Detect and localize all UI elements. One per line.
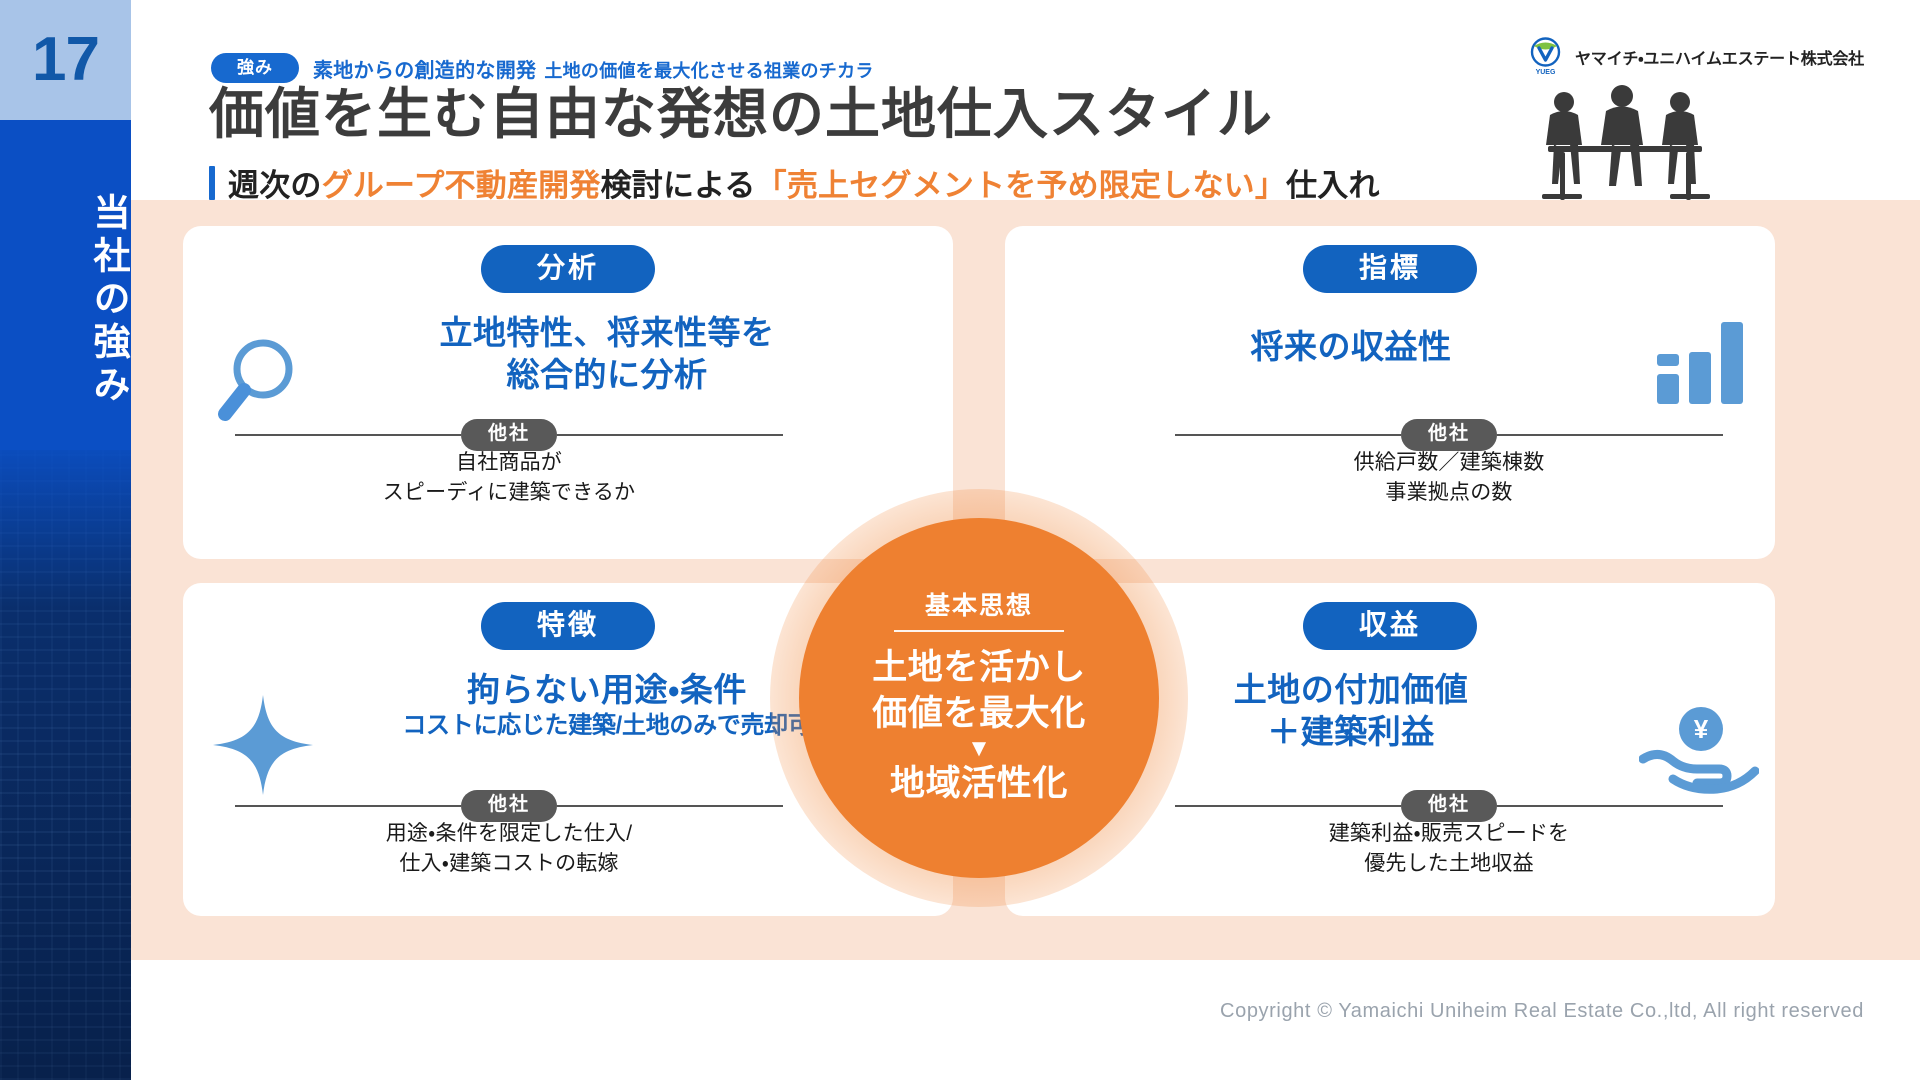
sparkle-icon — [211, 693, 315, 802]
divider-line-right — [1497, 805, 1723, 807]
strength-badge: 強み — [211, 53, 299, 83]
subtitle-accent-1: グループ不動産開発 — [322, 168, 601, 203]
card-grid: 分析 立地特性、将来性等を 総合的に分析 他社 自社商品が スピーディに建築でき… — [183, 226, 1775, 916]
center-main-line1: 土地を活かし — [872, 648, 1086, 687]
subtitle-part-1: 週次の — [228, 168, 322, 203]
divider-line-right — [1497, 434, 1723, 436]
svg-text:¥: ¥ — [1694, 714, 1709, 744]
company-name: ヤマイチ・ユニハイムエステート株式会社 — [1575, 45, 1864, 69]
people-illustration-icon — [1530, 82, 1720, 202]
other-company-badge: 他社 — [461, 419, 557, 451]
hand-yen-icon: ¥ — [1639, 701, 1759, 802]
card-other-line2: スピーディに建築できるか — [383, 481, 636, 504]
center-divider — [894, 630, 1064, 632]
left-rail: 17 当社の強み — [0, 0, 131, 1080]
card-headline-line2: ＋建築利益 — [1267, 713, 1435, 750]
svg-text:YUEG: YUEG — [1536, 69, 1556, 76]
card-other-text: 供給戸数／建築棟数 事業拠点の数 — [1175, 448, 1723, 508]
eyebrow: 強み 素地からの創造的な開発土地の価値を最大化させる祖業のチカラ — [211, 53, 874, 83]
subtitle-part-5: 仕入れ — [1286, 168, 1380, 203]
other-company-badge: 他社 — [1401, 419, 1497, 451]
page-number: 17 — [32, 29, 99, 91]
card-other-line1: 自社商品が — [456, 451, 562, 474]
page-title: 価値を生む自由な発想の土地仕入スタイル — [209, 84, 1273, 146]
logo-mark-icon: YUEG — [1525, 36, 1566, 77]
card-divider-row: 他社 — [235, 790, 783, 822]
card-headline-line2: 総合的に分析 — [507, 356, 708, 393]
divider-line-left — [1175, 805, 1401, 807]
card-other-text: 用途・条件を限定した仕入/ 仕入・建築コストの転嫁 — [235, 819, 783, 879]
eyebrow-text: 素地からの創造的な開発土地の価値を最大化させる祖業のチカラ — [313, 54, 874, 83]
card-other-line2: 仕入・建築コストの転嫁 — [399, 852, 618, 875]
other-company-badge: 他社 — [1401, 790, 1497, 822]
center-arrow-icon: ▼ — [967, 738, 991, 761]
slide-footer: Copyright © Yamaichi Uniheim Real Estate… — [131, 960, 1920, 1080]
center-label: 基本思想 — [925, 591, 1033, 621]
center-concept-circle: 基本思想 土地を活かし 価値を最大化 ▼ 地域活性化 — [799, 518, 1159, 878]
subtitle-row: 週次のグループ不動産開発検討による「売上セグメントを予め限定しない」仕入れ — [209, 160, 1380, 205]
divider-line-right — [557, 434, 783, 436]
card-other-line2: 事業拠点の数 — [1385, 481, 1512, 504]
card-other-text: 自社商品が スピーディに建築できるか — [235, 448, 783, 508]
card-other-line1: 供給戸数／建築棟数 — [1354, 451, 1545, 474]
card-category-badge: 分析 — [481, 245, 655, 293]
content-panel: 分析 立地特性、将来性等を 総合的に分析 他社 自社商品が スピーディに建築でき… — [131, 200, 1920, 960]
card-divider-row: 他社 — [1175, 419, 1723, 451]
card-other-text: 建築利益・販売スピードを 優先した土地収益 — [1175, 819, 1723, 879]
card-headline-line1: 将来の収益性 — [1251, 328, 1452, 365]
card-category-badge: 特徴 — [481, 602, 655, 650]
card-headline-line1: 拘らない用途・条件 — [467, 671, 747, 708]
card-analysis[interactable]: 分析 立地特性、将来性等を 総合的に分析 他社 自社商品が スピーディに建築でき… — [183, 226, 953, 559]
copyright-text: Copyright © Yamaichi Uniheim Real Estate… — [1220, 1000, 1864, 1023]
center-bottom-text: 地域活性化 — [890, 763, 1068, 805]
card-headline-line1: 土地の付加価値 — [1234, 671, 1469, 708]
card-category-badge: 指標 — [1303, 245, 1477, 293]
divider-line-left — [1175, 434, 1401, 436]
page-number-block: 17 — [0, 0, 131, 120]
card-indicator[interactable]: 指標 将来の収益性 他社 供給戸数／建築棟数 事業拠点の数 — [1005, 226, 1775, 559]
center-main-text: 土地を活かし 価値を最大化 — [872, 645, 1086, 737]
card-headline-line1: 立地特性、将来性等を — [440, 314, 775, 351]
eyebrow-sub: 土地の価値を最大化させる祖業のチカラ — [544, 61, 873, 81]
magnifier-icon — [211, 331, 311, 440]
divider-line-right — [557, 805, 783, 807]
subtitle-accent-bar — [209, 166, 215, 200]
divider-line-left — [235, 805, 461, 807]
subtitle-accent-2: 「売上セグメントを予め限定しない」 — [756, 168, 1286, 203]
card-other-line1: 用途・条件を限定した仕入/ — [386, 822, 633, 845]
card-other-line2: 優先した土地収益 — [1364, 852, 1534, 875]
other-company-badge: 他社 — [461, 790, 557, 822]
card-category-badge: 収益 — [1303, 602, 1477, 650]
subtitle-part-3: 検討による — [601, 168, 756, 203]
company-logo: YUEG ヤマイチ・ユニハイムエステート株式会社 — [1525, 36, 1864, 77]
section-vertical-label: 当社の強み — [0, 150, 131, 450]
eyebrow-main: 素地からの創造的な開発 — [313, 60, 536, 82]
card-other-line1: 建築利益・販売スピードを — [1329, 822, 1570, 845]
bar-chart-icon — [1649, 314, 1759, 414]
card-divider-row: 他社 — [235, 419, 783, 451]
subtitle: 週次のグループ不動産開発検討による「売上セグメントを予め限定しない」仕入れ — [228, 160, 1380, 205]
center-main-line2: 価値を最大化 — [872, 694, 1086, 733]
